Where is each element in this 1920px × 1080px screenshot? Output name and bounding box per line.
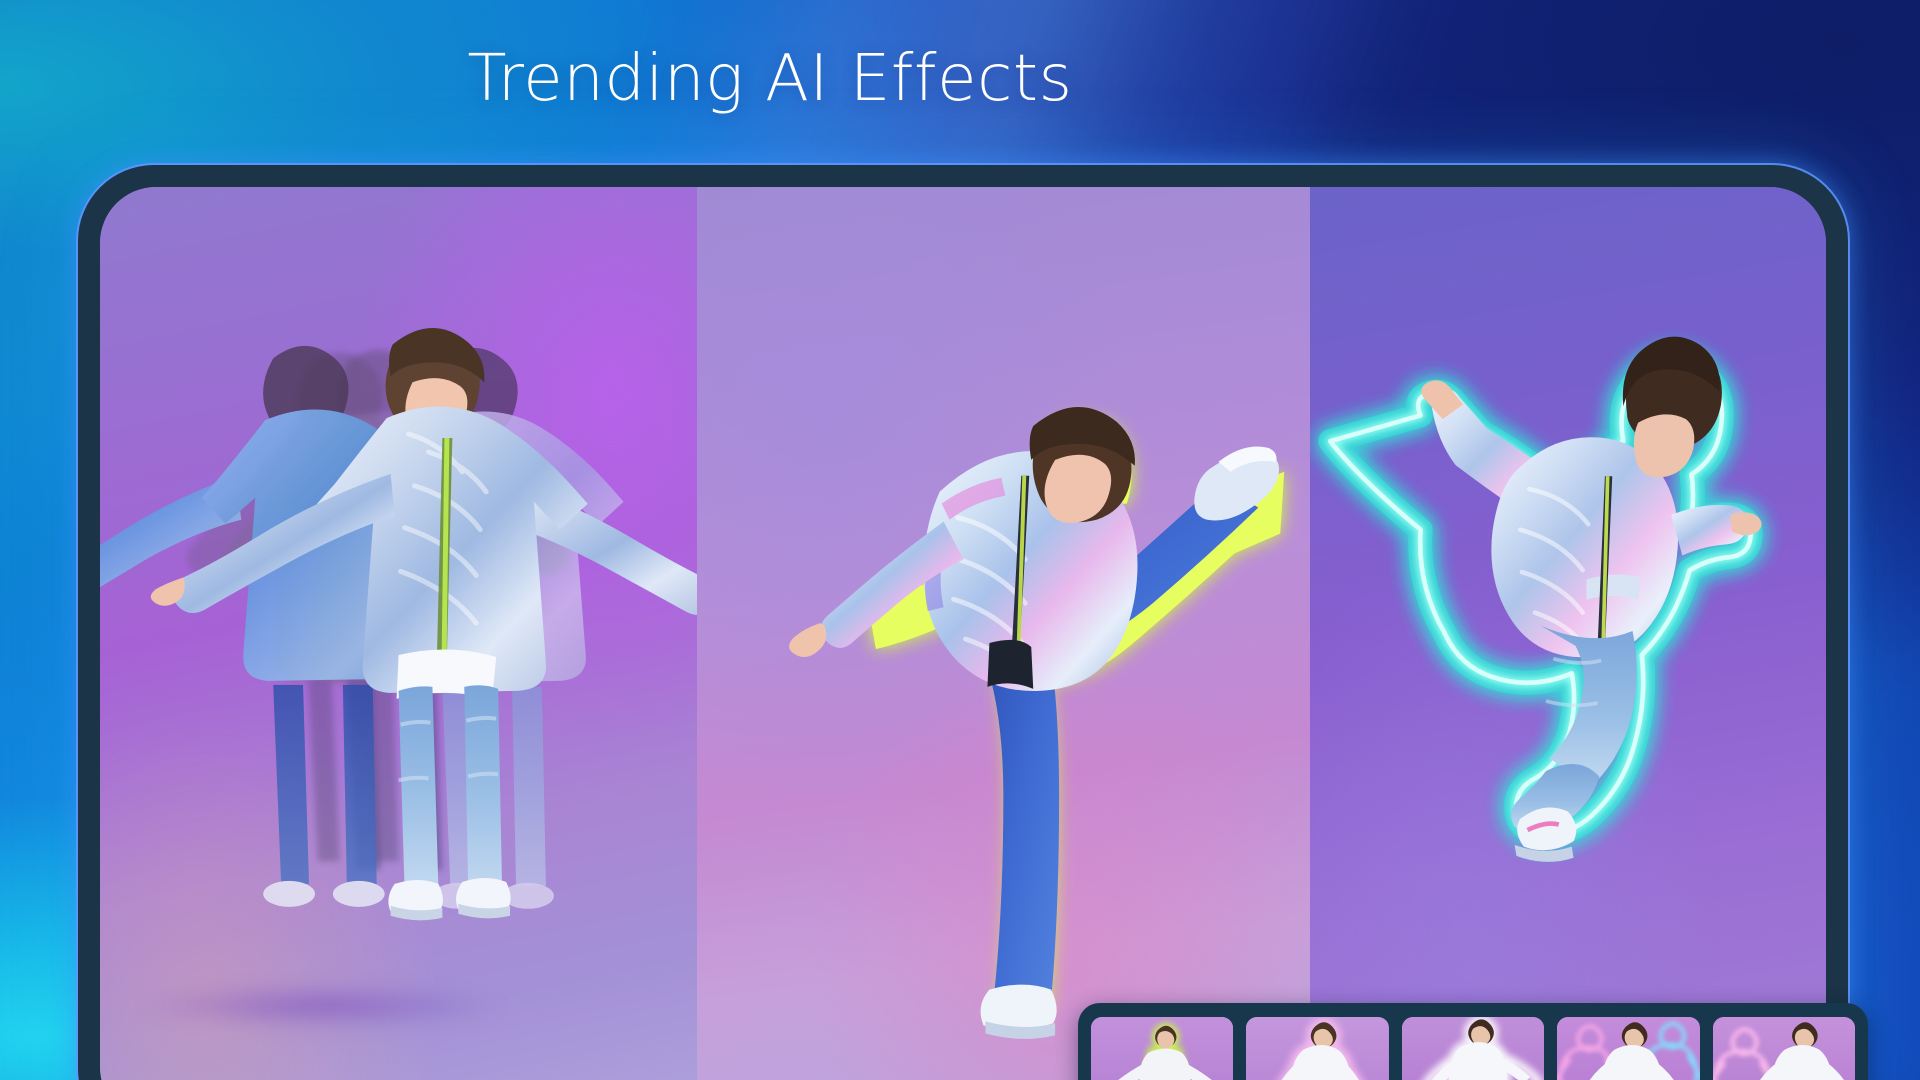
preview-panel-silhouette[interactable] — [1310, 187, 1826, 1080]
preview-panel-ghost[interactable] — [100, 187, 697, 1080]
effect-thumb-ghost-2[interactable]: Ghost 2 — [1713, 1017, 1855, 1080]
effect-thumb-silhouette-icon — [1091, 1017, 1233, 1080]
preview-panel-contour[interactable] — [697, 187, 1310, 1080]
effect-thumb-contour-1[interactable]: Contour 1 — [1246, 1017, 1388, 1080]
effect-thumb-contour-2-icon — [1402, 1017, 1544, 1080]
contour-dancer-figure — [697, 187, 1310, 1080]
effect-thumb-ghost-1-icon — [1557, 1017, 1699, 1080]
effect-thumb-contour-1-icon — [1246, 1017, 1388, 1080]
effect-thumb-contour-2[interactable]: Contour 2 — [1402, 1017, 1544, 1080]
device-screen — [100, 187, 1826, 1080]
effect-thumb-silhouette[interactable]: Silhouette — [1091, 1017, 1233, 1080]
effects-thumbnail-bar[interactable]: Silhouette — [1078, 1003, 1868, 1080]
ghost-dancer-figure — [100, 187, 697, 1080]
silhouette-dancer-figure — [1310, 187, 1826, 1080]
effect-thumb-ghost-1[interactable]: Ghost 1 — [1557, 1017, 1699, 1080]
page-title: Trending AI Effects — [0, 44, 1540, 114]
device-frame: Silhouette — [78, 165, 1848, 1080]
effect-thumb-ghost-2-icon — [1713, 1017, 1855, 1080]
screenshot-stage: Trending AI Effects — [0, 0, 1920, 1080]
